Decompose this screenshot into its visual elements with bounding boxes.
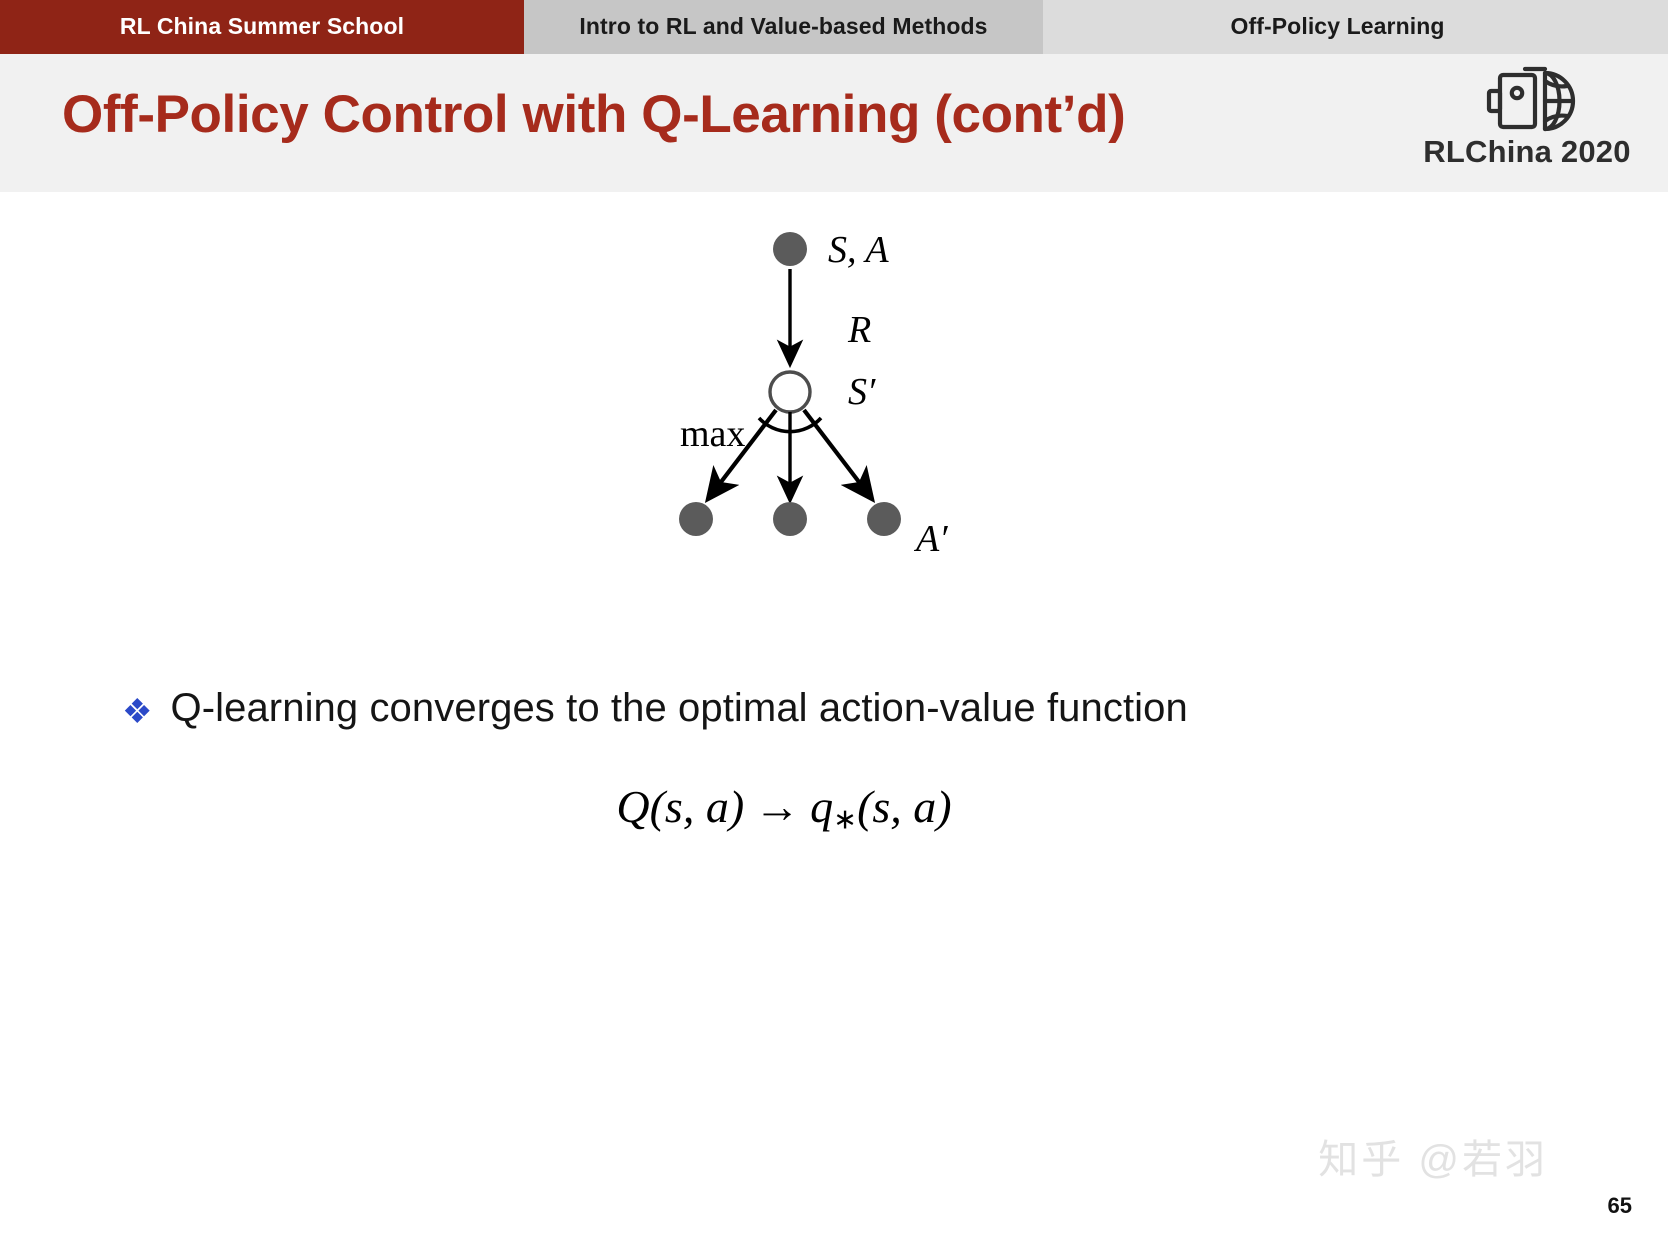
convergence-formula: Q(s, a)→q∗(s, a) (0, 780, 1568, 836)
page-title: Off-Policy Control with Q-Learning (cont… (62, 84, 1125, 145)
diagram-label-max: max (680, 412, 745, 456)
title-band: Off-Policy Control with Q-Learning (cont… (0, 54, 1668, 192)
bullet-text: Q-learning converges to the optimal acti… (170, 686, 1187, 731)
diagram-label-state-action: S, A (828, 228, 889, 272)
page-number: 65 (1608, 1193, 1632, 1219)
bullet-row: ❖ Q-learning converges to the optimal ac… (122, 686, 1188, 731)
formula-rhs-subscript: ∗ (833, 804, 857, 835)
diagram-label-next-state: S′ (848, 370, 875, 414)
diagram-node-next-state (770, 372, 810, 412)
diagram-node-leaf-center (773, 502, 807, 536)
formula-rhs-base: q (810, 781, 833, 832)
brand-name: RLChina 2020 (1402, 134, 1652, 170)
slide-content: S, A R S′ A′ max ❖ Q-learning converges … (0, 192, 1668, 1241)
diagram-node-root (773, 232, 807, 266)
diagram-node-leaf-right (867, 502, 901, 536)
top-navigation-strip: RL China Summer School Intro to RL and V… (0, 0, 1668, 54)
formula-lhs: Q(s, a) (616, 781, 744, 832)
diagram-node-leaf-left (679, 502, 713, 536)
nav-tab-rl-china-summer-school[interactable]: RL China Summer School (0, 0, 524, 54)
formula-operator: → (744, 781, 810, 832)
watermark: 知乎 @若羽 (1318, 1127, 1548, 1185)
q-learning-backup-diagram: S, A R S′ A′ max (620, 212, 1040, 602)
diagram-label-reward: R (848, 308, 871, 352)
brand-block: RLChina 2020 (1402, 60, 1652, 190)
diagram-edge-right (804, 410, 872, 499)
robot-globe-icon (1402, 60, 1652, 138)
diamond-bullet-icon: ❖ (122, 686, 152, 729)
diagram-label-next-action: A′ (916, 517, 948, 561)
nav-tab-off-policy-learning[interactable]: Off-Policy Learning (1043, 0, 1668, 54)
formula-rhs-args: (s, a) (857, 781, 952, 832)
nav-tab-intro-to-rl[interactable]: Intro to RL and Value-based Methods (524, 0, 1043, 54)
